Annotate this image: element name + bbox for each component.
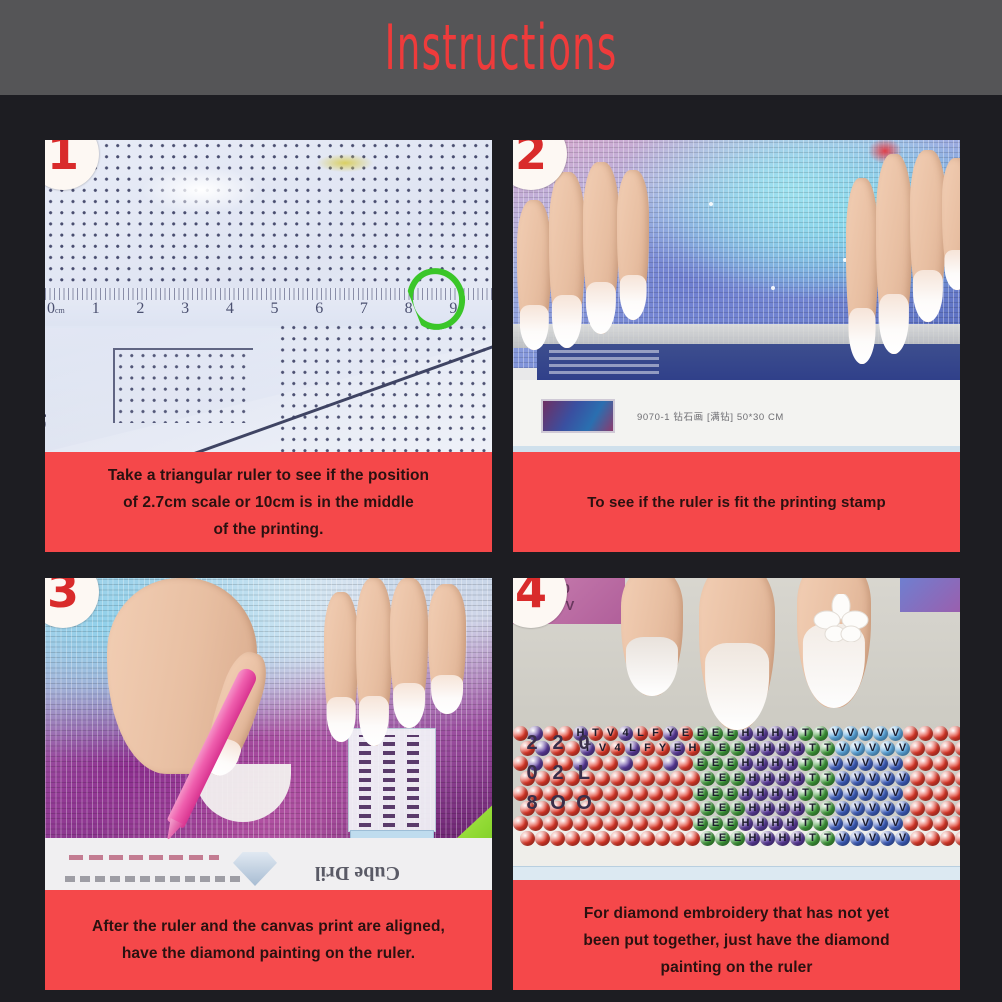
bead-symbol: V bbox=[888, 816, 903, 831]
bead-symbol: H bbox=[738, 816, 753, 831]
diamond-bead bbox=[618, 816, 633, 831]
bead-symbol: V bbox=[880, 741, 895, 756]
diamond-bead bbox=[610, 831, 625, 846]
page-header: Instructions bbox=[0, 0, 1002, 95]
ruler-tick-3: 3 bbox=[181, 300, 226, 318]
bead-symbol: H bbox=[768, 786, 783, 801]
bead-symbol: H bbox=[775, 741, 790, 756]
finger bbox=[549, 172, 585, 348]
symbol-cell: 2 bbox=[545, 758, 571, 788]
bead-symbol: V bbox=[880, 801, 895, 816]
diamond-bead bbox=[940, 831, 955, 846]
step-2-caption: To see if the ruler is fit the printing … bbox=[513, 452, 960, 552]
diamond-bead bbox=[528, 816, 543, 831]
diamond-bead bbox=[670, 831, 685, 846]
fingernail bbox=[552, 295, 582, 348]
diamond-bead bbox=[925, 831, 940, 846]
diamond-bead bbox=[550, 831, 565, 846]
ruler-tick-0: 0cm bbox=[47, 300, 92, 318]
step-2-photo: 9070-1 钻石画 [满钻] 50*30 CM 2 bbox=[513, 140, 960, 452]
symbol-cell: 0 bbox=[571, 728, 597, 758]
bead-symbol: V bbox=[850, 771, 865, 786]
diamond-bead bbox=[685, 831, 700, 846]
bead-symbol: V bbox=[858, 786, 873, 801]
page-title: Instructions bbox=[385, 17, 618, 79]
diamond-bead bbox=[513, 816, 528, 831]
diamond-bead bbox=[588, 816, 603, 831]
bead-symbol: V bbox=[858, 756, 873, 771]
step-4-caption-line-2: been put together, just have the diamond bbox=[583, 927, 889, 954]
finger bbox=[428, 584, 466, 714]
nail-flower-decoration-icon bbox=[813, 594, 869, 642]
symbol-cell: L bbox=[571, 758, 597, 788]
instruction-step-4: 8 8 0Y Y V bbox=[513, 578, 960, 990]
diamond-bead bbox=[640, 831, 655, 846]
bead-symbol: T bbox=[798, 756, 813, 771]
diamond-bead bbox=[948, 756, 960, 771]
canvas-red-edge bbox=[513, 880, 960, 890]
finger bbox=[617, 170, 649, 320]
diamond-bead bbox=[955, 801, 960, 816]
canvas-mesh-dots-inset bbox=[113, 348, 253, 423]
step-3-caption-line-1: After the ruler and the canvas print are… bbox=[92, 913, 445, 940]
fingernail bbox=[849, 308, 876, 364]
bead-symbol: H bbox=[768, 756, 783, 771]
bead-symbol: T bbox=[798, 786, 813, 801]
bead-symbol: V bbox=[865, 831, 880, 846]
diamond-bead bbox=[940, 741, 955, 756]
diamond-bead bbox=[633, 816, 648, 831]
diamond-bead bbox=[955, 771, 960, 786]
yellow-print-area bbox=[317, 154, 373, 172]
step-1-caption-line-2: of 2.7cm scale or 10cm is in the middle bbox=[123, 489, 414, 516]
instruction-steps-grid: 0cm 1 2 3 4 5 6 7 8 9 ASI 1 bbox=[0, 95, 1002, 1002]
step-4-photo: 8 8 0Y Y V bbox=[513, 578, 960, 890]
bead-symbol: H bbox=[790, 831, 805, 846]
fingernail-glitter bbox=[626, 637, 678, 696]
bead-symbol: T bbox=[820, 771, 835, 786]
fingernail bbox=[944, 250, 960, 290]
bead-symbol: V bbox=[873, 756, 888, 771]
bead-symbol: H bbox=[753, 816, 768, 831]
diamond-bead bbox=[558, 816, 573, 831]
bead-symbol: V bbox=[895, 741, 910, 756]
fingernail bbox=[520, 305, 549, 350]
step-3-caption: After the ruler and the canvas print are… bbox=[45, 890, 492, 990]
photo-glare bbox=[141, 166, 261, 214]
bead-symbol: T bbox=[805, 771, 820, 786]
bead-symbol: V bbox=[888, 786, 903, 801]
bead-symbol: V bbox=[873, 816, 888, 831]
diamond-bead bbox=[580, 831, 595, 846]
symbol-cell: O bbox=[571, 788, 597, 818]
finger bbox=[583, 162, 619, 334]
bead-symbol: V bbox=[865, 741, 880, 756]
bead-symbol: V bbox=[858, 816, 873, 831]
fingernail bbox=[913, 270, 943, 322]
canvas-mesh-dots-lower bbox=[277, 322, 492, 452]
diamond-bead bbox=[918, 786, 933, 801]
step-4-number: 4 bbox=[515, 578, 547, 614]
finger bbox=[699, 578, 775, 730]
bead-symbol: V bbox=[828, 756, 843, 771]
bead-symbol: V bbox=[865, 771, 880, 786]
diamond-bead bbox=[955, 741, 960, 756]
ruler-tick-4: 4 bbox=[226, 300, 271, 318]
step-1-photo: 0cm 1 2 3 4 5 6 7 8 9 ASI 1 bbox=[45, 140, 492, 452]
canvas-blue-guide bbox=[513, 866, 960, 880]
fingers-over-canvas bbox=[621, 578, 921, 738]
bead-symbol: V bbox=[850, 741, 865, 756]
diamond-bead bbox=[925, 801, 940, 816]
bead-symbol: H bbox=[768, 816, 783, 831]
product-label-strip: 9070-1 钻石画 [满钻] 50*30 CM bbox=[513, 380, 960, 452]
bead-symbol: V bbox=[835, 741, 850, 756]
diamond-bead bbox=[910, 741, 925, 756]
bead-symbol: H bbox=[783, 786, 798, 801]
bead-symbol: V bbox=[880, 831, 895, 846]
bead-symbol: V bbox=[888, 756, 903, 771]
diamond-bead bbox=[933, 816, 948, 831]
bead-symbol: H bbox=[775, 831, 790, 846]
bead-symbol: H bbox=[775, 771, 790, 786]
bead-symbol: T bbox=[820, 741, 835, 756]
diamond-bead bbox=[903, 756, 918, 771]
ruler-tick-7: 7 bbox=[360, 300, 405, 318]
step-2-caption-line-1: To see if the ruler is fit the printing … bbox=[587, 489, 885, 516]
diamond-bead bbox=[625, 831, 640, 846]
bead-symbol: V bbox=[850, 831, 865, 846]
diamond-bead bbox=[565, 831, 580, 846]
bead-symbol: H bbox=[745, 831, 760, 846]
bead-symbol: T bbox=[798, 816, 813, 831]
bead-symbol: V bbox=[835, 771, 850, 786]
diamond-bead bbox=[910, 831, 925, 846]
bead-symbol: H bbox=[775, 801, 790, 816]
diamond-bead bbox=[543, 816, 558, 831]
diamond-bead bbox=[933, 786, 948, 801]
bead-symbol: V bbox=[850, 801, 865, 816]
diamond-bead bbox=[955, 831, 960, 846]
bead-symbol: V bbox=[828, 786, 843, 801]
fingernail bbox=[431, 675, 463, 714]
bead-symbol: V bbox=[895, 771, 910, 786]
bead-symbol: T bbox=[805, 831, 820, 846]
diamond-bead bbox=[918, 756, 933, 771]
symbol-cell: 0 bbox=[519, 758, 545, 788]
footer-print-row bbox=[69, 855, 219, 860]
bead-symbol: T bbox=[813, 786, 828, 801]
diamond-bead bbox=[910, 801, 925, 816]
symbol-cell: O bbox=[545, 788, 571, 818]
symbol-cell: 8 bbox=[519, 788, 545, 818]
step-1-number: 1 bbox=[47, 140, 79, 176]
fingernail bbox=[393, 683, 425, 728]
bead-symbol: E bbox=[715, 831, 730, 846]
diamond-bead bbox=[925, 741, 940, 756]
finger bbox=[356, 578, 392, 746]
step-4-caption-line-3: painting on the ruler bbox=[661, 954, 813, 981]
finger bbox=[621, 578, 683, 696]
fingernail bbox=[620, 275, 647, 320]
fingernail bbox=[586, 282, 616, 334]
bead-symbol: T bbox=[820, 801, 835, 816]
instruction-step-1: 0cm 1 2 3 4 5 6 7 8 9 ASI 1 bbox=[45, 140, 492, 552]
symbol-cell: 2 bbox=[545, 728, 571, 758]
diamond-bead bbox=[933, 756, 948, 771]
symbol-code-grid: 2 2 0 0 2 L 8 O O bbox=[519, 728, 749, 818]
finger bbox=[846, 178, 878, 364]
sparkle-dot bbox=[709, 202, 713, 206]
diamond-bead bbox=[940, 771, 955, 786]
bead-symbol: V bbox=[895, 831, 910, 846]
bead-symbol: H bbox=[760, 831, 775, 846]
bead-symbol: V bbox=[865, 801, 880, 816]
bead-symbol: V bbox=[843, 786, 858, 801]
step-2-number: 2 bbox=[515, 140, 547, 176]
step-1-caption-line-3: of the printing. bbox=[213, 516, 323, 543]
diamond-bead bbox=[603, 816, 618, 831]
diamond-bead bbox=[535, 831, 550, 846]
bead-symbol: H bbox=[760, 801, 775, 816]
step-4-caption: For diamond embroidery that has not yet … bbox=[513, 890, 960, 990]
diamond-bead bbox=[655, 831, 670, 846]
diamond-bead bbox=[925, 771, 940, 786]
fingernail bbox=[879, 294, 909, 354]
diamond-bead bbox=[948, 786, 960, 801]
diamond-bead bbox=[948, 816, 960, 831]
diamond-bead bbox=[933, 726, 948, 741]
diamond-bead bbox=[940, 801, 955, 816]
step-3-caption-line-2: have the diamond painting on the ruler. bbox=[122, 940, 415, 967]
bead-symbol: V bbox=[895, 801, 910, 816]
step-3-photo: Cube Dril 3 bbox=[45, 578, 492, 890]
ruler-tick-5: 5 bbox=[271, 300, 316, 318]
bead-symbol: V bbox=[843, 816, 858, 831]
bead-symbol: V bbox=[835, 801, 850, 816]
finger bbox=[517, 200, 551, 350]
finger bbox=[324, 592, 358, 742]
bead-symbol: H bbox=[760, 771, 775, 786]
diamond-bead bbox=[903, 786, 918, 801]
bead-symbol: V bbox=[828, 816, 843, 831]
ruler-tick-1: 1 bbox=[92, 300, 137, 318]
bead-symbol: V bbox=[873, 786, 888, 801]
bead-symbol: H bbox=[790, 741, 805, 756]
diamond-bead bbox=[903, 816, 918, 831]
instruction-step-3: Cube Dril 3 After the ruler and the canv… bbox=[45, 578, 492, 990]
bead-symbol: E bbox=[693, 816, 708, 831]
ruler-tick-6: 6 bbox=[315, 300, 360, 318]
fingernail-glitter bbox=[705, 643, 769, 730]
bead-symbol: V bbox=[835, 831, 850, 846]
instruction-step-2: 9070-1 钻石画 [满钻] 50*30 CM 2 To see if the… bbox=[513, 140, 960, 552]
diamond-bead bbox=[520, 831, 535, 846]
diamond-bead bbox=[910, 771, 925, 786]
diamond-bead bbox=[573, 816, 588, 831]
diamond-bead bbox=[918, 816, 933, 831]
bead-symbol: T bbox=[820, 831, 835, 846]
diamond-bead bbox=[678, 816, 693, 831]
sparkle-dot bbox=[771, 286, 775, 290]
bead-symbol: H bbox=[753, 786, 768, 801]
diamond-bead bbox=[663, 816, 678, 831]
bead-symbol: E bbox=[708, 816, 723, 831]
finger bbox=[910, 150, 946, 322]
bead-symbol: H bbox=[753, 756, 768, 771]
bead-symbol: H bbox=[790, 801, 805, 816]
ruler-tick-2: 2 bbox=[136, 300, 181, 318]
finger bbox=[390, 578, 428, 728]
bead-symbol: V bbox=[843, 756, 858, 771]
bead-symbol: H bbox=[790, 771, 805, 786]
label-bottom-rule bbox=[513, 446, 960, 452]
step-1-caption-line-1: Take a triangular ruler to see if the po… bbox=[108, 462, 429, 489]
symbol-cell: 2 bbox=[519, 728, 545, 758]
step-3-number: 3 bbox=[47, 578, 79, 614]
footer-print-row bbox=[65, 876, 245, 882]
bead-symbol: E bbox=[730, 831, 745, 846]
bead-symbol: H bbox=[783, 816, 798, 831]
bead-symbol: H bbox=[783, 756, 798, 771]
step-4-caption-line-1: For diamond embroidery that has not yet bbox=[584, 900, 889, 927]
bead-symbol: T bbox=[813, 756, 828, 771]
product-label-text: 9070-1 钻石画 [满钻] 50*30 CM bbox=[637, 409, 784, 423]
finger bbox=[942, 158, 960, 290]
bead-symbol: T bbox=[805, 741, 820, 756]
diamond-bead bbox=[648, 816, 663, 831]
bead-symbol: E bbox=[700, 831, 715, 846]
right-hand bbox=[324, 578, 474, 768]
diamond-bead bbox=[948, 726, 960, 741]
bead-symbol: H bbox=[760, 741, 775, 756]
canvas-brand-text: Cube Dril bbox=[315, 861, 400, 884]
bead-symbol: T bbox=[805, 801, 820, 816]
finger bbox=[876, 154, 912, 354]
canvas-mesh-dots bbox=[45, 140, 492, 292]
right-hand bbox=[846, 150, 960, 360]
bead-symbol: V bbox=[880, 771, 895, 786]
fingernail bbox=[327, 697, 356, 742]
fingernail bbox=[359, 696, 389, 746]
bead-symbol: T bbox=[813, 816, 828, 831]
diamond-bead bbox=[595, 831, 610, 846]
bead-symbol: E bbox=[723, 816, 738, 831]
step-1-caption: Take a triangular ruler to see if the po… bbox=[45, 452, 492, 552]
product-thumbnail bbox=[541, 399, 615, 433]
